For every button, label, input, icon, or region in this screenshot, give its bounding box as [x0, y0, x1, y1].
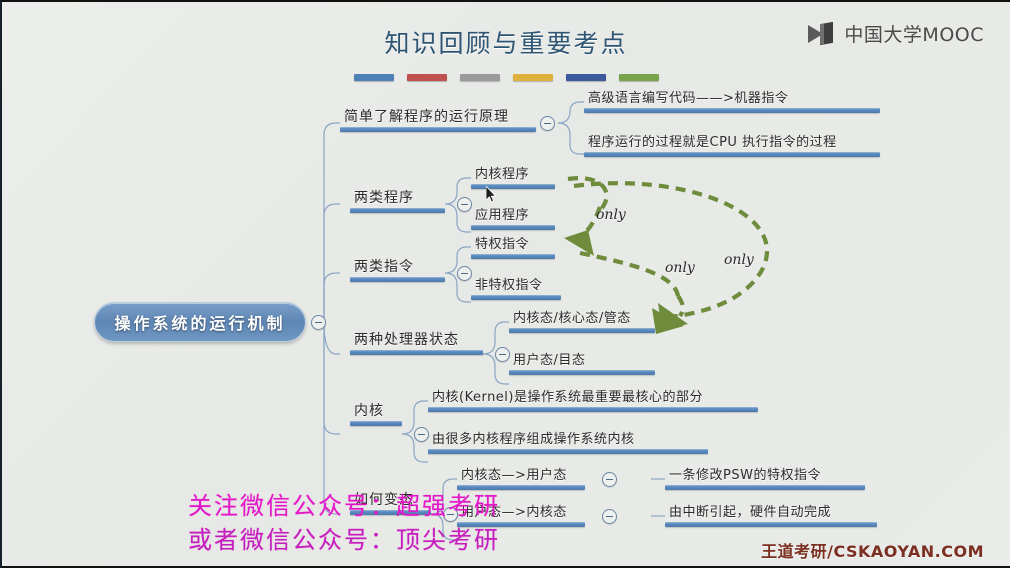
- node-label: 两类程序: [350, 190, 445, 208]
- toggle-user-to-kernel[interactable]: [602, 509, 617, 524]
- node-label: 高级语言编写代码——>机器指令: [584, 90, 880, 108]
- node-underline: [471, 254, 555, 259]
- toggle-two-program-types[interactable]: [457, 197, 472, 212]
- node-kernel-mode[interactable]: 内核态/核心态/管态: [509, 310, 655, 333]
- node-label: 一条修改PSW的特权指令: [665, 467, 865, 485]
- node-privileged-instruction[interactable]: 特权指令: [471, 236, 555, 259]
- mindmap-root-node[interactable]: 操作系统的运行机制: [94, 302, 306, 342]
- only-arrow-1: [568, 178, 607, 208]
- node-underline: [428, 407, 758, 412]
- node-underline: [340, 127, 536, 132]
- node-user-mode[interactable]: 用户态/目态: [509, 352, 655, 375]
- node-kernel-definition[interactable]: 内核(Kernel)是操作系统最重要最核心的部分: [428, 389, 758, 412]
- toggle-kernel-to-user[interactable]: [602, 472, 617, 487]
- footer-brand: 王道考研/CSKAOYAN.COM: [761, 538, 984, 562]
- node-underline: [509, 328, 655, 333]
- node-underline: [509, 370, 655, 375]
- mindmap: 操作系统的运行机制 简单了解程序的运行原理 高级语言编写代码——>机器指令 程序…: [2, 2, 1010, 568]
- node-nonprivileged-instruction[interactable]: 非特权指令: [471, 277, 561, 300]
- node-label: 两种处理器状态: [350, 332, 483, 350]
- node-label: 内核程序: [471, 166, 555, 184]
- node-label: 内核(Kernel)是操作系统最重要最核心的部分: [428, 389, 758, 407]
- node-psw-instruction[interactable]: 一条修改PSW的特权指令: [665, 467, 865, 490]
- node-underline: [584, 152, 880, 157]
- node-kernel-program[interactable]: 内核程序: [471, 166, 555, 189]
- node-underline: [350, 350, 483, 355]
- node-underline: [471, 184, 555, 189]
- node-label: 应用程序: [471, 207, 555, 225]
- node-underline: [350, 277, 445, 282]
- node-label: 由中断引起，硬件自动完成: [665, 504, 877, 522]
- node-two-program-types[interactable]: 两类程序: [350, 190, 445, 213]
- node-interrupt-triggered[interactable]: 由中断引起，硬件自动完成: [665, 504, 877, 527]
- node-label: 非特权指令: [471, 277, 561, 295]
- node-label: 由很多内核程序组成操作系统内核: [428, 431, 708, 449]
- node-label: 特权指令: [471, 236, 555, 254]
- only-arrow-2: [574, 183, 767, 318]
- node-label: 程序运行的过程就是CPU 执行指令的过程: [584, 134, 880, 152]
- node-program-principle[interactable]: 简单了解程序的运行原理: [340, 109, 536, 132]
- node-label: 简单了解程序的运行原理: [340, 109, 536, 127]
- node-underline: [665, 485, 865, 490]
- node-application-program[interactable]: 应用程序: [471, 207, 555, 230]
- node-label: 用户态/目态: [509, 352, 655, 370]
- node-underline: [350, 208, 445, 213]
- mindmap-root-label: 操作系统的运行机制: [114, 310, 285, 334]
- mouse-cursor: [486, 186, 497, 203]
- node-underline: [428, 449, 708, 454]
- node-underline: [665, 522, 877, 527]
- only-arrow-3: [580, 253, 678, 296]
- node-kernel[interactable]: 内核: [350, 403, 402, 426]
- slide-canvas: 知识回顾与重要考点 中国大学MOOC: [0, 0, 1010, 568]
- node-label: 内核态/核心态/管态: [509, 310, 655, 328]
- node-underline: [471, 295, 561, 300]
- node-highlevel-to-machine[interactable]: 高级语言编写代码——>机器指令: [584, 90, 880, 113]
- annotation-only-2: only: [665, 260, 695, 276]
- node-two-instruction-types[interactable]: 两类指令: [350, 259, 445, 282]
- node-kernel-composition[interactable]: 由很多内核程序组成操作系统内核: [428, 431, 708, 454]
- node-label: 内核: [350, 403, 402, 421]
- annotation-only-1: only: [596, 207, 626, 223]
- node-underline: [350, 421, 402, 426]
- root-collapse-toggle[interactable]: [311, 315, 326, 330]
- watermark-line-2: 或者微信公众号：顶尖考研: [188, 520, 500, 555]
- node-label: 内核态—>用户态: [457, 467, 585, 485]
- node-label: 两类指令: [350, 259, 445, 277]
- toggle-two-processor-states[interactable]: [495, 347, 510, 362]
- node-underline: [584, 108, 880, 113]
- node-underline: [471, 225, 555, 230]
- watermark-line-1: 关注微信公众号：超强考研: [188, 486, 500, 521]
- node-two-processor-states[interactable]: 两种处理器状态: [350, 332, 483, 355]
- toggle-kernel[interactable]: [414, 427, 429, 442]
- node-cpu-exec-process[interactable]: 程序运行的过程就是CPU 执行指令的过程: [584, 134, 880, 157]
- toggle-program-principle[interactable]: [540, 116, 555, 131]
- toggle-two-instruction-types[interactable]: [457, 266, 472, 281]
- annotation-only-3: only: [724, 252, 754, 268]
